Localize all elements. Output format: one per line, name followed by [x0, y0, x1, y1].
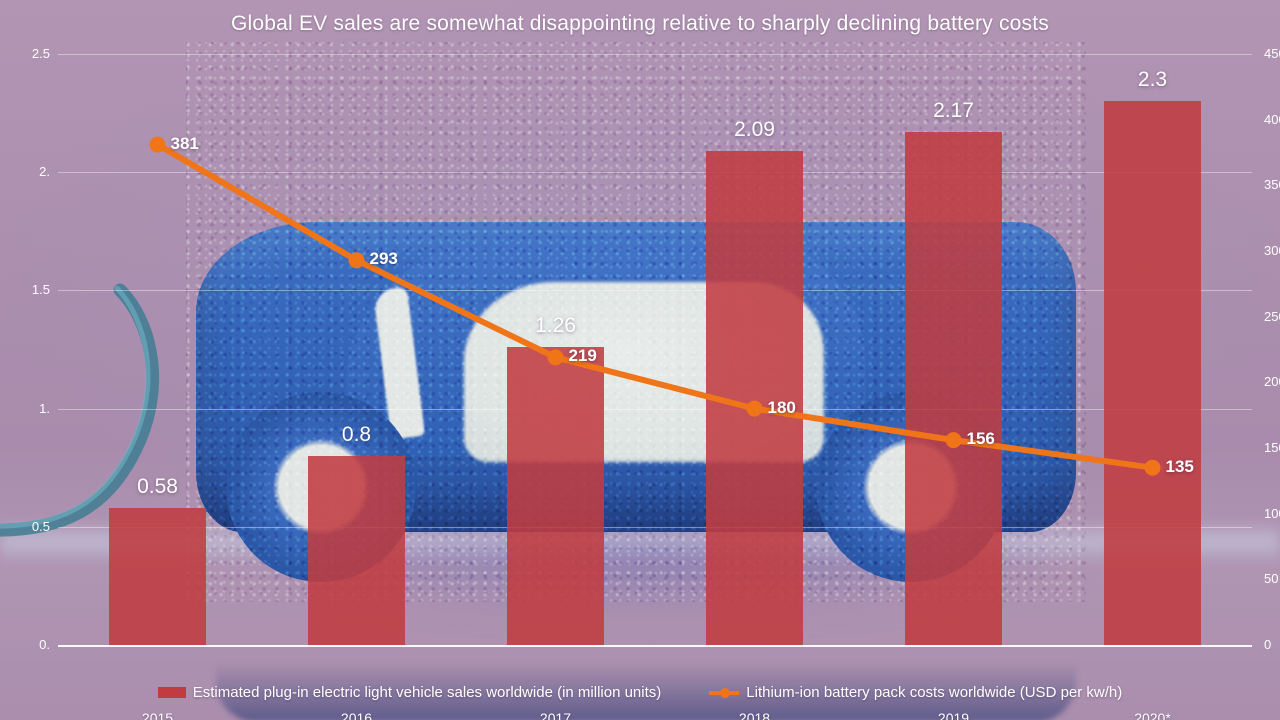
line-point-2017[interactable]	[548, 349, 564, 365]
line-value-label: 156	[967, 429, 995, 449]
line-value-label: 219	[569, 346, 597, 366]
chart-screenshot: Global EV sales are somewhat disappointi…	[0, 0, 1280, 720]
line-value-label: 135	[1166, 457, 1194, 477]
line-swatch-icon	[709, 687, 739, 698]
line-path-battery-cost	[158, 145, 1153, 468]
line-value-label: 180	[768, 398, 796, 418]
line-point-2018[interactable]	[747, 401, 763, 417]
legend-label-ev-sales: Estimated plug-in electric light vehicle…	[193, 684, 662, 701]
chart-area: Global EV sales are somewhat disappointi…	[0, 0, 1280, 720]
line-point-2020[interactable]	[1145, 460, 1161, 476]
line-value-label: 293	[370, 249, 398, 269]
line-value-label: 381	[171, 134, 199, 154]
chart-legend: Estimated plug-in electric light vehicle…	[0, 684, 1280, 701]
line-point-2019[interactable]	[946, 432, 962, 448]
line-point-2016[interactable]	[349, 252, 365, 268]
line-point-2015[interactable]	[150, 137, 166, 153]
line-series-layer	[0, 0, 1280, 720]
legend-label-battery-cost: Lithium-ion battery pack costs worldwide…	[746, 684, 1122, 701]
bar-swatch-icon	[158, 687, 186, 698]
legend-item-ev-sales[interactable]: Estimated plug-in electric light vehicle…	[158, 684, 662, 701]
legend-item-battery-cost[interactable]: Lithium-ion battery pack costs worldwide…	[709, 684, 1122, 701]
